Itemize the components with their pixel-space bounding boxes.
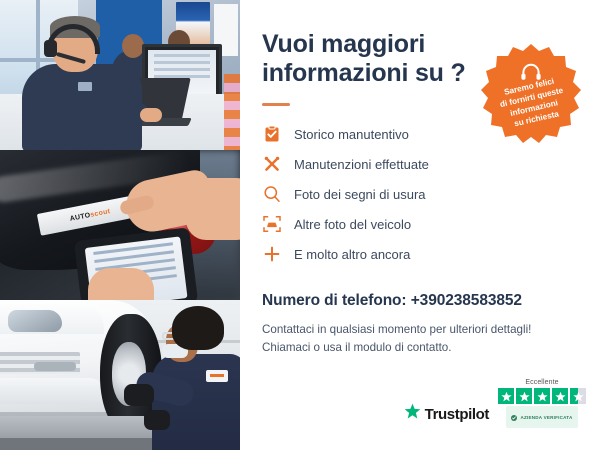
trustpilot-rating-block: Eccellente AZIENDA VERIFICATA [498, 379, 586, 428]
trustpilot-rating-label: Eccellente [525, 379, 558, 386]
verified-check-icon [511, 408, 517, 426]
agent-hand [140, 108, 162, 122]
contact-subtext: Contattaci in qualsiasi momento per ulte… [262, 321, 578, 357]
list-item-altre-foto-veicolo: Altre foto del veicolo [262, 210, 578, 238]
list-item-molto-altro: E molto altro ancora [262, 240, 578, 268]
crossed-tools-icon [262, 155, 281, 174]
plus-icon [262, 245, 281, 264]
photo-call-center [0, 0, 240, 150]
promo-banner: AUTOscout [0, 0, 600, 450]
feature-label: Foto dei segni di usura [294, 187, 426, 202]
strip-brand-secondary: scout [90, 208, 111, 219]
headline-line-2: informazioni su ? [262, 59, 466, 87]
car-headlight [8, 310, 62, 332]
verified-label: AZIENDA VERIFICATA [520, 415, 572, 420]
subtext-line-1: Contattaci in qualsiasi momento per ulte… [262, 323, 531, 336]
mechanic [150, 306, 240, 450]
trustpilot-widget[interactable]: Trustpilot Eccellente AZIENDA VERIFICATA [404, 379, 586, 428]
star-3 [534, 388, 550, 404]
agent-name-badge [78, 82, 92, 91]
list-item-manutenzioni-effettuate: Manutenzioni effettuate [262, 150, 578, 178]
strip-brand-primary: AUTO [69, 211, 91, 222]
subtext-line-2: Chiamaci o usa il modulo di contatto. [262, 341, 451, 354]
vehicle-lift-base [0, 438, 160, 450]
inspector-hand-lower [88, 268, 154, 300]
trustpilot-logo: Trustpilot [404, 403, 489, 428]
phone-label: Numero di telefono: [262, 292, 407, 309]
car-bumper [0, 378, 104, 404]
magnifier-icon [262, 185, 281, 204]
feature-label: Storico manutentivo [294, 127, 409, 142]
car-scan-frame-icon [262, 215, 281, 234]
orange-shelf-blur [224, 74, 240, 150]
status-badge: Saremo felici di fornirti queste informa… [478, 42, 584, 148]
car-fog-lamp [34, 362, 76, 371]
feature-label: E molto altro ancora [294, 247, 410, 262]
mechanic-hair [172, 306, 224, 350]
trustpilot-star-icon [404, 403, 421, 425]
mechanic-glove-lower [144, 410, 170, 430]
star-2 [516, 388, 532, 404]
headline-line-1: Vuoi maggiori [262, 30, 425, 58]
photo-mechanic-wheel [0, 300, 240, 450]
list-item-foto-segni-usura: Foto dei segni di usura [262, 180, 578, 208]
title-divider [262, 103, 290, 106]
feature-label: Altre foto del veicolo [294, 217, 411, 232]
agent-headset-earcup [44, 40, 57, 57]
phone-number-line: Numero di telefono: +390238583852 [262, 292, 578, 310]
trustpilot-name: Trustpilot [425, 406, 489, 423]
info-panel: Vuoi maggiori informazioni su ? Storico … [240, 0, 600, 450]
photo-column: AUTOscout [0, 0, 240, 450]
verified-company-badge: AZIENDA VERIFICATA [506, 406, 577, 428]
clipboard-check-icon [262, 125, 281, 144]
mechanic-glove-upper [124, 384, 154, 406]
phone-number[interactable]: +390238583852 [411, 292, 522, 309]
photo-vehicle-inspection: AUTOscout [0, 150, 240, 300]
foreground-agent [22, 18, 142, 150]
trustpilot-stars [498, 388, 586, 404]
star-4 [552, 388, 568, 404]
star-5-half [570, 388, 586, 404]
mechanic-uniform-logo [206, 370, 228, 382]
star-1 [498, 388, 514, 404]
feature-label: Manutenzioni effettuate [294, 157, 429, 172]
